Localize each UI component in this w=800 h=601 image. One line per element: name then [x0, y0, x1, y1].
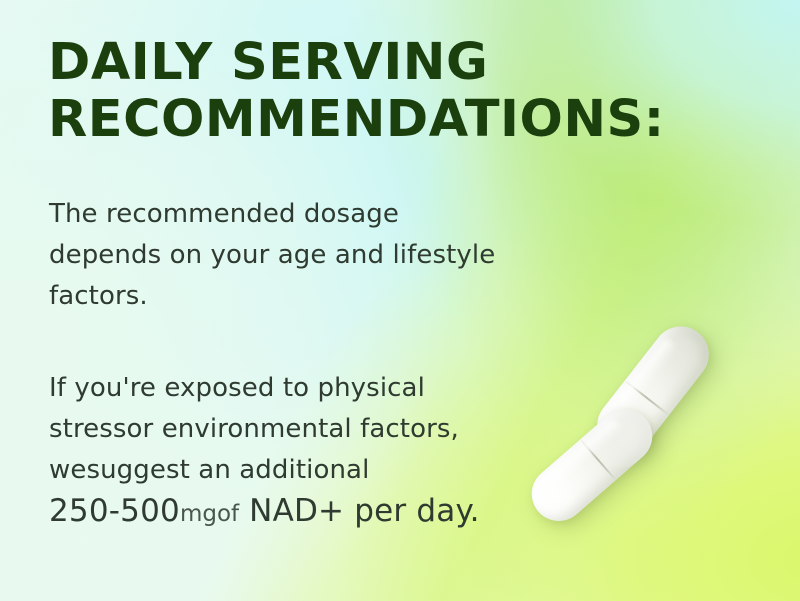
content-column: DAILY SERVING RECOMMENDATIONS: The recom…	[48, 0, 708, 601]
dosage-description-paragraph: The recommended dosage depends on your a…	[49, 194, 609, 317]
dose-amount: 250-500	[49, 493, 180, 529]
dose-statement: 250-500mgof NAD+ per day.	[49, 491, 480, 536]
stressor-recommendation-paragraph: If you're exposed to physical stressor e…	[49, 368, 609, 491]
dose-compound: NAD+ per day.	[239, 493, 480, 529]
poster-canvas: DAILY SERVING RECOMMENDATIONS: The recom…	[0, 0, 800, 601]
dose-unit: mgof	[180, 501, 239, 527]
page-title: DAILY SERVING RECOMMENDATIONS:	[48, 34, 708, 148]
